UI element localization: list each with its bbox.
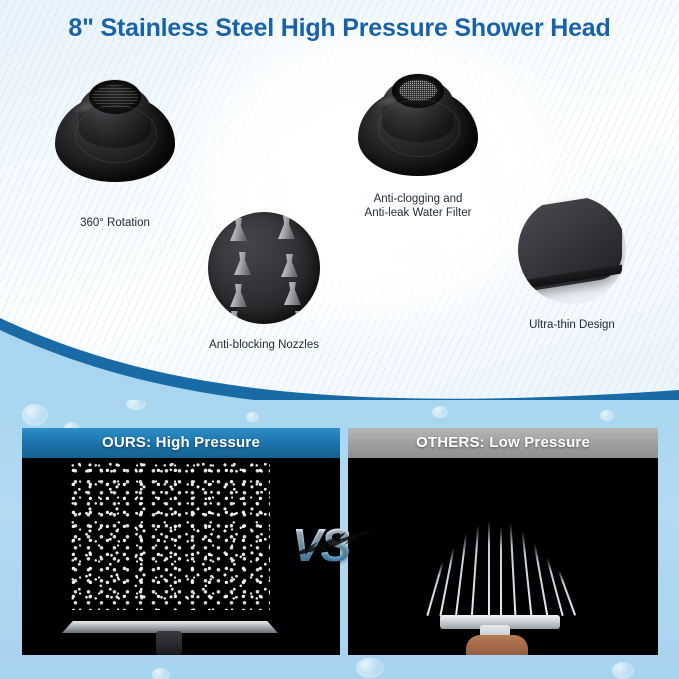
water-droplet: [152, 668, 170, 679]
comparison-section: OURS: High Pressure OTHERS: Low Pressure: [0, 400, 679, 679]
water-droplet: [22, 404, 48, 426]
feature-rotation-image: [55, 72, 175, 187]
infographic-page: 8" Stainless Steel High Pressure Shower …: [0, 0, 679, 679]
panel-others-photo: [348, 458, 658, 655]
thin-profile-corner-icon: [518, 196, 626, 304]
panel-others: OTHERS: Low Pressure: [348, 428, 658, 655]
water-droplet: [246, 412, 259, 422]
feature-filter-caption: Anti-clogging and Anti-leak Water Filter: [338, 192, 498, 220]
silicone-nozzle-closeup-icon: [208, 212, 320, 324]
water-droplet: [600, 410, 614, 421]
panel-ours-heading: OURS: High Pressure: [22, 428, 340, 458]
swivel-ball-joint-icon: [55, 72, 175, 187]
vs-lightning-slash: [284, 526, 380, 566]
feature-nozzles-image: [208, 212, 320, 324]
water-droplet: [612, 662, 634, 679]
water-droplet: [126, 400, 146, 410]
feature-rotation-caption: 360° Rotation: [35, 216, 195, 230]
feature-filter-image: [358, 66, 478, 181]
feature-ultrathin-image: [518, 196, 626, 304]
filter-mesh-joint-icon: [358, 66, 478, 181]
panel-others-heading: OTHERS: Low Pressure: [348, 428, 658, 458]
water-droplet: [356, 658, 384, 678]
page-title: 8" Stainless Steel High Pressure Shower …: [0, 14, 679, 43]
water-droplet: [432, 406, 448, 418]
